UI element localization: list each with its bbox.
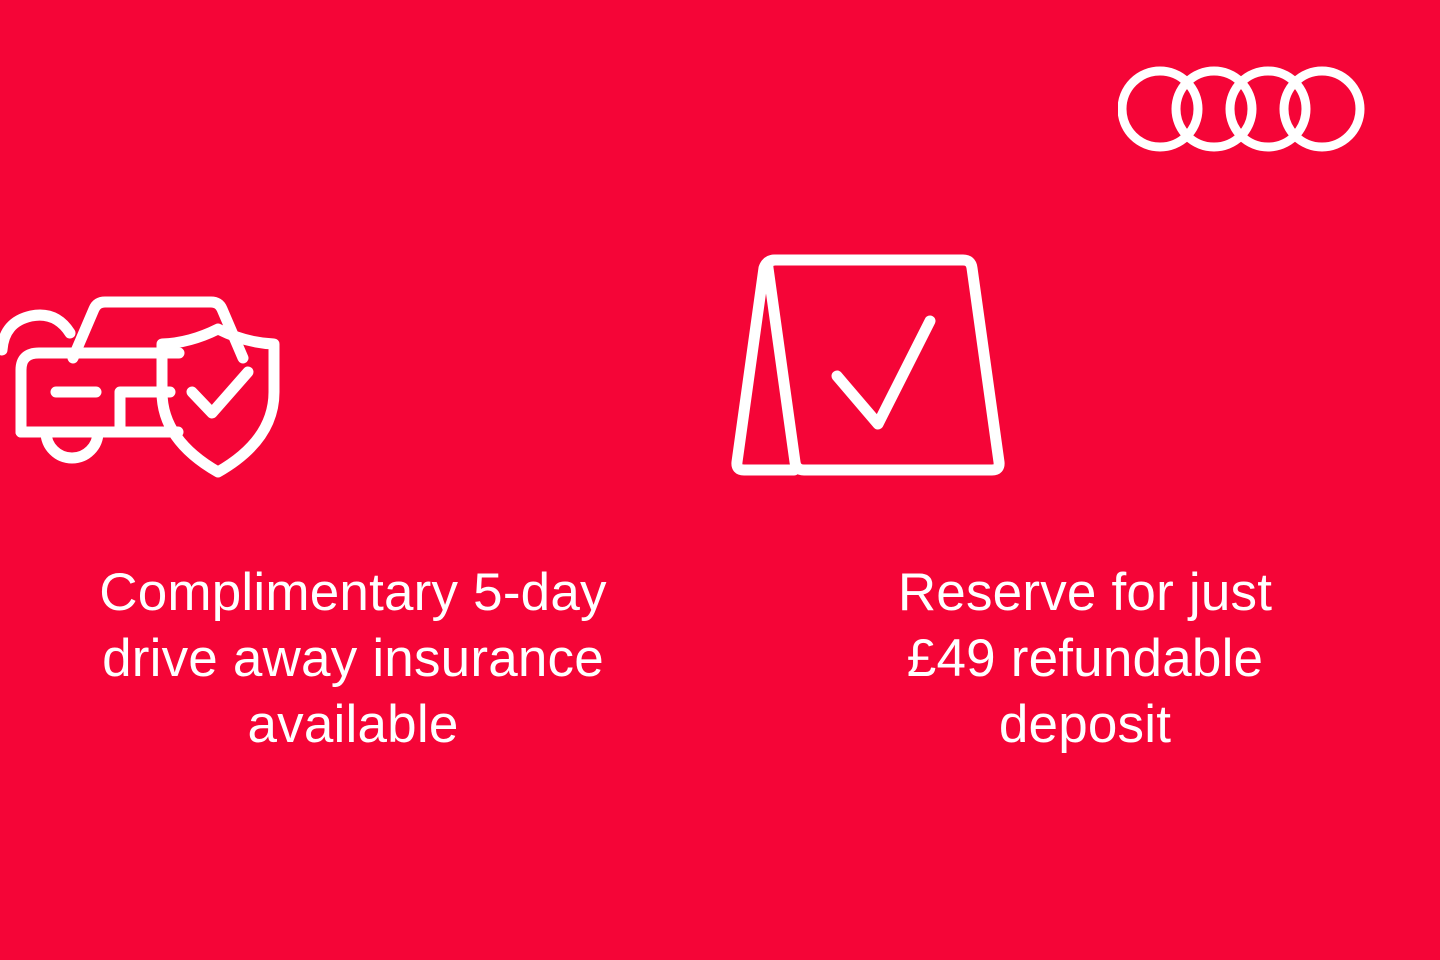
promo-banner: Complimentary 5-day drive away insurance…: [0, 0, 1440, 960]
feature-insurance-caption: Complimentary 5-day drive away insurance…: [93, 560, 613, 758]
feature-insurance: Complimentary 5-day drive away insurance…: [0, 0, 720, 758]
feature-deposit-caption: Reserve for just £49 refundable deposit: [870, 560, 1300, 758]
car-with-shield-check-icon: [0, 250, 300, 482]
feature-deposit: Reserve for just £49 refundable deposit: [720, 0, 1440, 758]
feature-list: Complimentary 5-day drive away insurance…: [0, 0, 1440, 960]
folded-card-check-icon: [731, 250, 1007, 482]
